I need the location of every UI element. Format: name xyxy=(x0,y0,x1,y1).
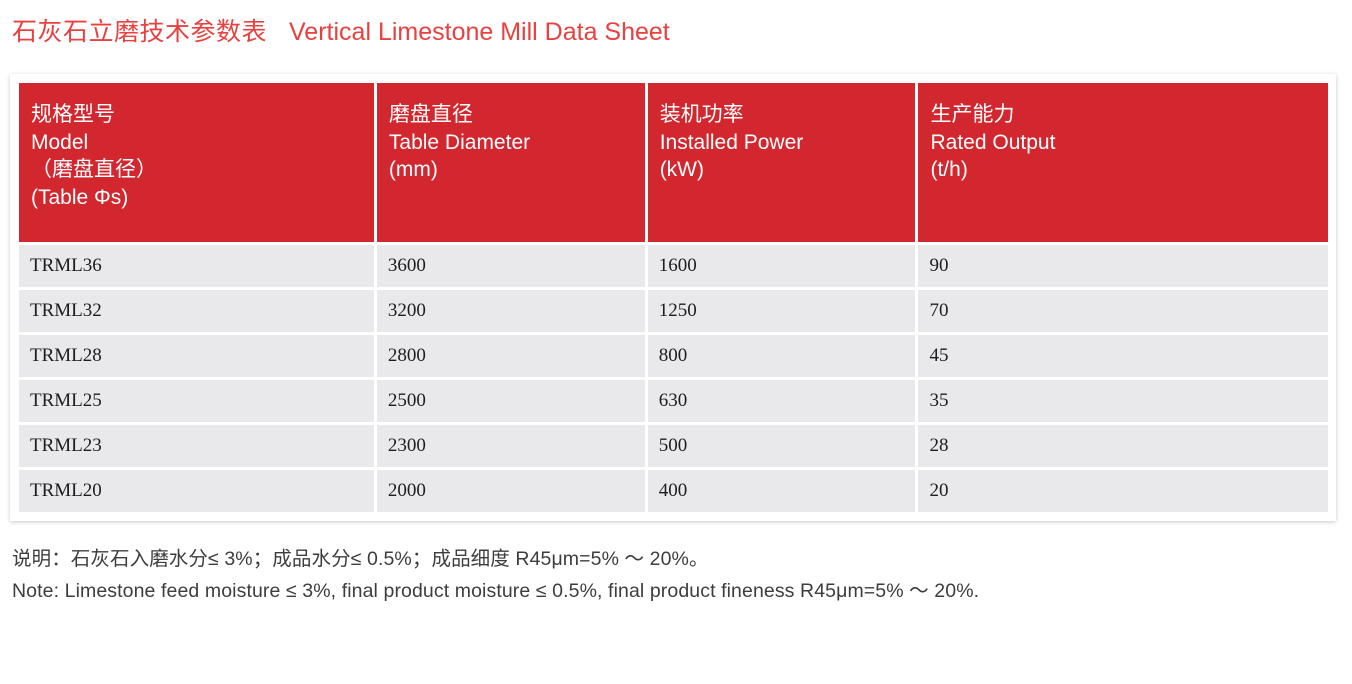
table-cell-model: TRML36 xyxy=(19,245,374,287)
header-line: 生产能力 xyxy=(930,101,1316,129)
table-cell-table_diameter: 2800 xyxy=(377,335,645,377)
column-header-table-diameter: 磨盘直径 Table Diameter (mm) xyxy=(377,83,645,242)
spec-table-header: 规格型号 Model （磨盘直径） (Table Φs) 磨盘直径 Table … xyxy=(19,83,1328,242)
table-cell-table_diameter: 3200 xyxy=(377,290,645,332)
table-cell-model: TRML23 xyxy=(19,425,374,467)
table-cell-model: TRML20 xyxy=(19,470,374,512)
table-cell-table_diameter: 2000 xyxy=(377,470,645,512)
table-row: TRML23230050028 xyxy=(19,425,1328,467)
table-row: TRML323200125070 xyxy=(19,290,1328,332)
header-line: 磨盘直径 xyxy=(389,101,633,129)
table-cell-installed_power: 1250 xyxy=(648,290,916,332)
column-header-model: 规格型号 Model （磨盘直径） (Table Φs) xyxy=(19,83,374,242)
table-cell-rated_output: 90 xyxy=(918,245,1328,287)
header-line: Model xyxy=(31,129,362,157)
header-line: Rated Output xyxy=(930,129,1316,157)
header-line: Installed Power xyxy=(660,129,904,157)
header-line: (Table Φs) xyxy=(31,184,362,212)
spec-table: 规格型号 Model （磨盘直径） (Table Φs) 磨盘直径 Table … xyxy=(16,80,1331,515)
header-line: (mm) xyxy=(389,156,633,184)
table-cell-installed_power: 400 xyxy=(648,470,916,512)
note-english: Note: Limestone feed moisture ≤ 3%, fina… xyxy=(12,576,1352,608)
page-title: 石灰石立磨技术参数表 Vertical Limestone Mill Data … xyxy=(12,12,670,48)
table-cell-installed_power: 630 xyxy=(648,380,916,422)
header-row: 规格型号 Model （磨盘直径） (Table Φs) 磨盘直径 Table … xyxy=(19,83,1328,242)
table-cell-model: TRML28 xyxy=(19,335,374,377)
table-cell-installed_power: 800 xyxy=(648,335,916,377)
table-cell-table_diameter: 2300 xyxy=(377,425,645,467)
table-cell-installed_power: 500 xyxy=(648,425,916,467)
header-line: （磨盘直径） xyxy=(31,156,362,184)
table-cell-table_diameter: 3600 xyxy=(377,245,645,287)
header-line: 装机功率 xyxy=(660,101,904,129)
table-cell-rated_output: 70 xyxy=(918,290,1328,332)
table-cell-table_diameter: 2500 xyxy=(377,380,645,422)
table-row: TRML25250063035 xyxy=(19,380,1328,422)
header-line: 规格型号 xyxy=(31,101,362,129)
table-cell-rated_output: 20 xyxy=(918,470,1328,512)
page-title-chinese: 石灰石立磨技术参数表 xyxy=(12,12,267,48)
header-line: (kW) xyxy=(660,156,904,184)
table-cell-rated_output: 28 xyxy=(918,425,1328,467)
table-row: TRML20200040020 xyxy=(19,470,1328,512)
header-line: (t/h) xyxy=(930,156,1316,184)
notes-block: 说明：石灰石入磨水分≤ 3%；成品水分≤ 0.5%；成品细度 R45μm=5% … xyxy=(12,544,1352,607)
table-row: TRML363600160090 xyxy=(19,245,1328,287)
table-cell-rated_output: 45 xyxy=(918,335,1328,377)
datasheet-page: 石灰石立磨技术参数表 Vertical Limestone Mill Data … xyxy=(0,0,1352,684)
header-line: Table Diameter xyxy=(389,129,633,157)
column-header-rated-output: 生产能力 Rated Output (t/h) xyxy=(918,83,1328,242)
table-cell-model: TRML32 xyxy=(19,290,374,332)
column-header-installed-power: 装机功率 Installed Power (kW) xyxy=(648,83,916,242)
table-cell-model: TRML25 xyxy=(19,380,374,422)
note-chinese: 说明：石灰石入磨水分≤ 3%；成品水分≤ 0.5%；成品细度 R45μm=5% … xyxy=(12,544,1352,576)
spec-table-body: TRML363600160090TRML323200125070TRML2828… xyxy=(19,245,1328,512)
table-cell-rated_output: 35 xyxy=(918,380,1328,422)
table-cell-installed_power: 1600 xyxy=(648,245,916,287)
spec-table-container: 规格型号 Model （磨盘直径） (Table Φs) 磨盘直径 Table … xyxy=(10,74,1336,521)
page-title-english: Vertical Limestone Mill Data Sheet xyxy=(289,18,670,47)
table-row: TRML28280080045 xyxy=(19,335,1328,377)
